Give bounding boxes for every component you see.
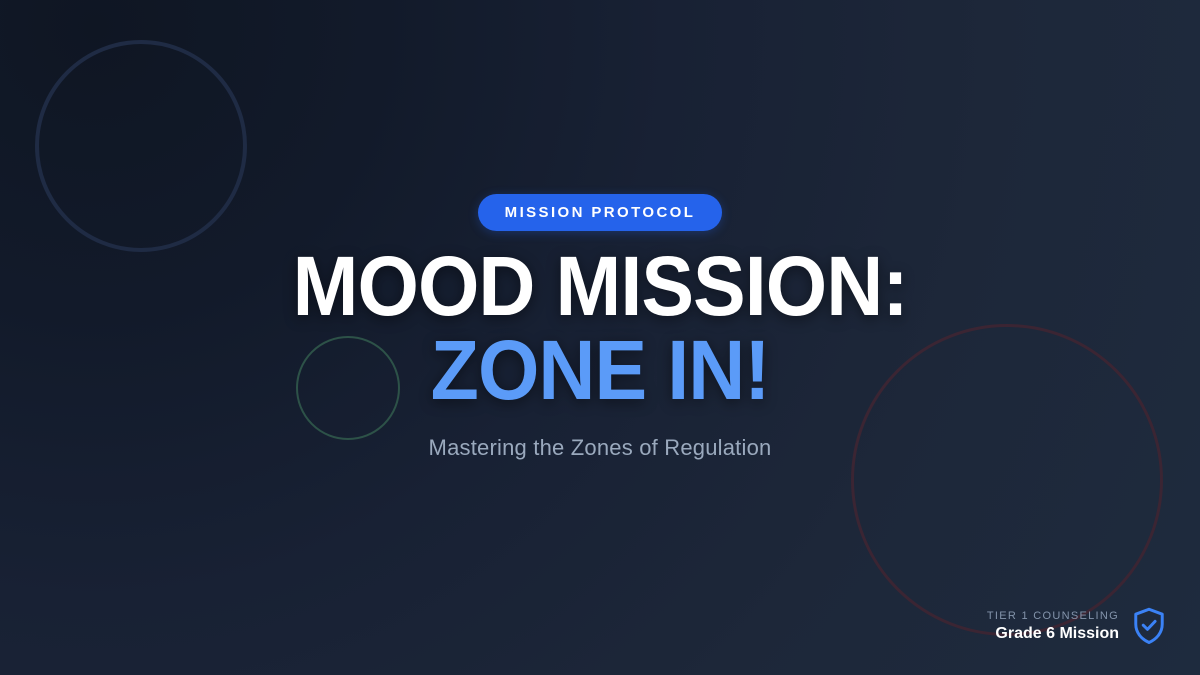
footer-badge: TIER 1 COUNSELING Grade 6 Mission: [987, 607, 1166, 645]
footer-title-label: Grade 6 Mission: [995, 625, 1119, 643]
page-subtitle: Mastering the Zones of Regulation: [429, 435, 772, 461]
shield-check-icon: [1132, 607, 1166, 645]
page-title: MOOD MISSION: ZONE IN!: [273, 247, 927, 411]
footer-text-group: TIER 1 COUNSELING Grade 6 Mission: [987, 610, 1119, 643]
mission-protocol-badge: MISSION PROTOCOL: [478, 194, 723, 231]
slide-content: MISSION PROTOCOL MOOD MISSION: ZONE IN! …: [0, 0, 1200, 675]
footer-kicker-label: TIER 1 COUNSELING: [987, 610, 1119, 622]
presentation-slide: MISSION PROTOCOL MOOD MISSION: ZONE IN! …: [0, 0, 1200, 675]
title-line-primary: MOOD MISSION:: [292, 247, 907, 327]
title-line-accent: ZONE IN!: [292, 331, 907, 411]
